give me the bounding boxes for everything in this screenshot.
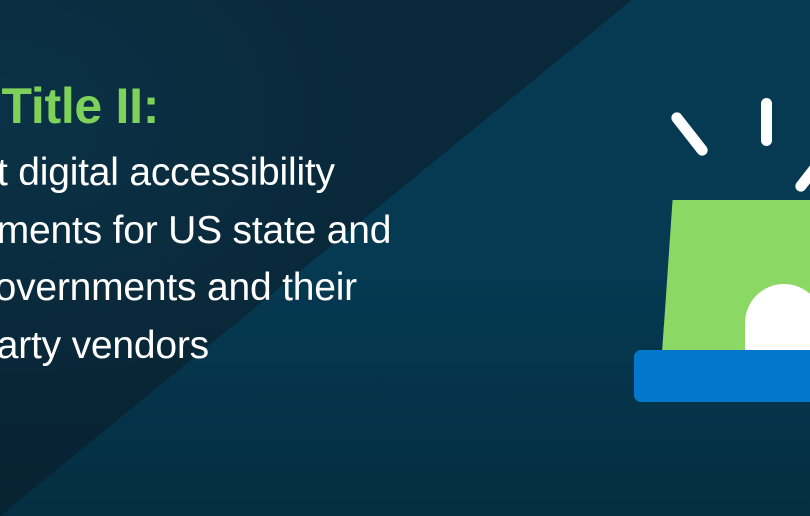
hero-subhead-line-3: l governments and their	[0, 266, 357, 309]
hero-headline: A Title II:	[0, 78, 514, 134]
hero-subhead: ent digital accessibility irements for U…	[0, 144, 554, 375]
hero-banner: A Title II: ent digital accessibility ir…	[0, 0, 810, 516]
flash-ray-right-icon	[793, 146, 810, 194]
hero-subhead-line-4: l-party vendors	[0, 324, 209, 367]
flash-ray-middle-icon	[761, 98, 772, 146]
flash-ray-left-icon	[669, 110, 710, 158]
hero-subhead-line-1: ent digital accessibility	[0, 151, 335, 194]
hero-subhead-line-2: irements for US state and	[0, 209, 391, 252]
hero-copy: A Title II: ent digital accessibility ir…	[0, 78, 514, 375]
siren-base-icon	[634, 350, 810, 402]
siren-icon	[620, 86, 810, 416]
